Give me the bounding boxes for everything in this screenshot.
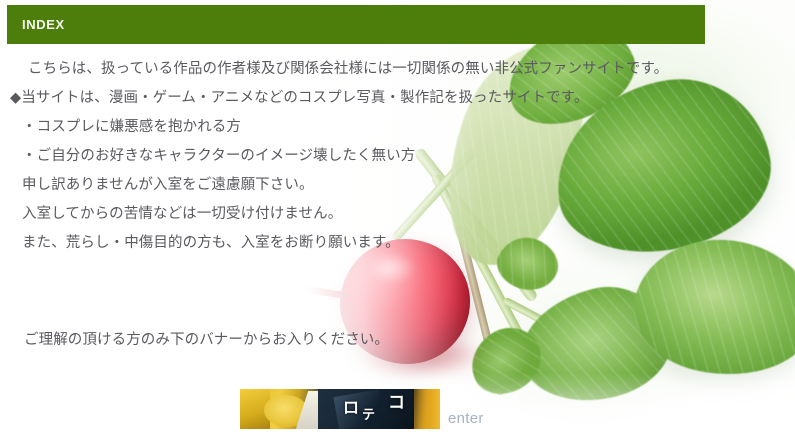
disclaimer-line-5: 申し訳ありませんが入室をご遠慮願下さい。 <box>0 171 600 200</box>
banner-kana-2: テ <box>362 409 375 422</box>
closing-instruction: ご理解の頂ける方のみ下のバナーからお入りください。 <box>0 326 600 355</box>
disclaimer-line-2: ◆当サイトは、漫画・ゲーム・アニメなどのコスプレ写真・製作記を扱ったサイトです。 <box>0 84 600 113</box>
enter-banner-area: ロ テ コ enter <box>240 389 484 429</box>
page-title: INDEX <box>22 17 65 32</box>
disclaimer-line-7: また、荒らし・中傷目的の方も、入室をお断り願います。 <box>0 229 600 258</box>
enter-banner-link[interactable]: ロ テ コ <box>240 389 440 429</box>
banner-glow <box>416 389 440 429</box>
content-spacer <box>0 258 600 326</box>
disclaimer-line-4: ・ご自分のお好きなキャラクターのイメージ壊したく無い方 <box>0 142 600 171</box>
main-content: こちらは、扱っている作品の作者様及び関係会社様には一切関係の無い非公式ファンサイ… <box>0 55 600 355</box>
radish-leaf <box>623 223 795 392</box>
page-root: INDEX こちらは、扱っている作品の作者様及び関係会社様には一切関係の無い非公… <box>0 0 795 443</box>
banner-kana-3: コ <box>388 395 405 412</box>
disclaimer-line-3: ・コスプレに嫌悪感を抱かれる方 <box>0 113 600 142</box>
header-bar: INDEX <box>7 5 705 44</box>
disclaimer-line-6: 入室してからの苦情などは一切受け付けません。 <box>0 200 600 229</box>
enter-label[interactable]: enter <box>448 410 484 427</box>
banner-kana-1: ロ <box>343 400 359 416</box>
disclaimer-line-1: こちらは、扱っている作品の作者様及び関係会社様には一切関係の無い非公式ファンサイ… <box>0 55 600 84</box>
